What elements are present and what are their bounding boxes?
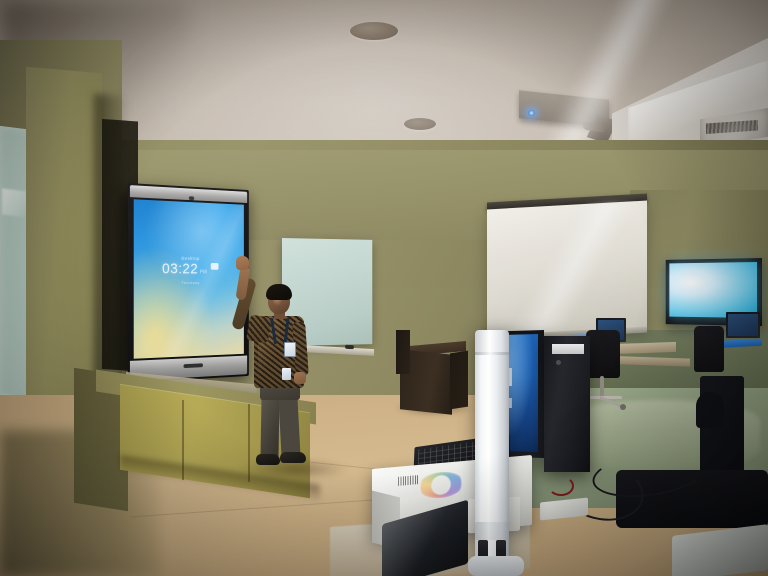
wall-dark-panel bbox=[396, 330, 410, 374]
cylinder-base bbox=[468, 556, 524, 576]
chair-gas-cylinder bbox=[600, 376, 604, 398]
id-badge-secondary bbox=[282, 368, 291, 380]
presenter-person bbox=[228, 272, 324, 474]
wall-tv-screen[interactable] bbox=[669, 262, 757, 318]
ceiling-speaker-icon bbox=[350, 22, 398, 40]
pc-tower-badge bbox=[552, 344, 584, 354]
photo-scene: Desktop 03:22 PM Thursday bbox=[0, 0, 768, 576]
person-right-shoe bbox=[280, 452, 306, 463]
red-cable bbox=[548, 476, 574, 496]
office-chair-back[interactable] bbox=[694, 326, 724, 372]
chair-caster-icon bbox=[620, 404, 626, 410]
cylinder-seam bbox=[475, 352, 509, 355]
office-chair-back[interactable] bbox=[586, 330, 620, 378]
pc-tower[interactable] bbox=[544, 336, 590, 472]
person-right-leg bbox=[278, 396, 300, 459]
person-hair bbox=[266, 284, 292, 300]
person-hand-raised bbox=[236, 256, 249, 270]
person-left-shoe bbox=[256, 454, 280, 465]
workstation-monitor-screen[interactable] bbox=[728, 314, 758, 336]
glass-panel-highlight bbox=[2, 188, 28, 217]
whiteboard-marker-icon[interactable] bbox=[345, 345, 354, 349]
display-camera-icon bbox=[189, 196, 194, 200]
cylinder-lower-band bbox=[475, 522, 509, 540]
person-right-hand bbox=[294, 372, 306, 384]
cylinder-cap bbox=[475, 330, 509, 352]
id-badge bbox=[284, 342, 296, 357]
person-left-leg bbox=[260, 396, 279, 458]
wooden-desk-side bbox=[450, 351, 468, 410]
pc-power-button-icon[interactable] bbox=[556, 360, 561, 365]
person-left-sleeve bbox=[246, 314, 272, 343]
dark-chair-armrest bbox=[696, 392, 724, 428]
